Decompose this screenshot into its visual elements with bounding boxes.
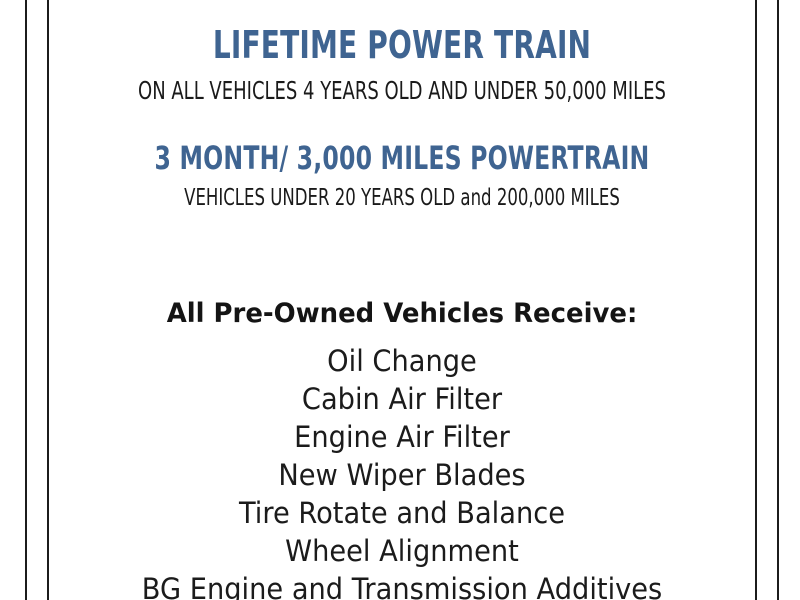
service-item: Wheel Alignment — [70, 532, 734, 570]
border-rule-inner-right — [755, 0, 757, 600]
warranty-offer-three-month: 3 MONTH/ 3,000 MILES POWERTRAIN VEHICLES… — [49, 142, 755, 210]
flyer-page: LIFETIME POWER TRAIN ON ALL VEHICLES 4 Y… — [0, 0, 800, 600]
warranty-headline-three-month: 3 MONTH/ 3,000 MILES POWERTRAIN — [113, 142, 692, 174]
services-section: All Pre-Owned Vehicles Receive: Oil Chan… — [49, 300, 755, 600]
border-rule-outer-right — [777, 0, 779, 600]
warranty-offer-lifetime: LIFETIME POWER TRAIN ON ALL VEHICLES 4 Y… — [49, 26, 755, 103]
service-item: Oil Change — [70, 342, 734, 380]
service-item: Cabin Air Filter — [70, 380, 734, 418]
services-section-title: All Pre-Owned Vehicles Receive: — [63, 300, 741, 327]
warranty-subtitle-three-month: VEHICLES UNDER 20 YEARS OLD and 200,000 … — [120, 187, 685, 210]
service-item: Engine Air Filter — [70, 418, 734, 456]
warranty-headline-lifetime: LIFETIME POWER TRAIN — [113, 26, 692, 64]
flyer-content: LIFETIME POWER TRAIN ON ALL VEHICLES 4 Y… — [49, 0, 755, 600]
services-list: Oil ChangeCabin Air FilterEngine Air Fil… — [49, 342, 755, 600]
service-item: Tire Rotate and Balance — [70, 494, 734, 532]
service-item: BG Engine and Transmission Additives — [70, 570, 734, 600]
border-rule-outer-left — [25, 0, 27, 600]
service-item: New Wiper Blades — [70, 456, 734, 494]
warranty-subtitle-lifetime: ON ALL VEHICLES 4 YEARS OLD AND UNDER 50… — [120, 78, 685, 103]
